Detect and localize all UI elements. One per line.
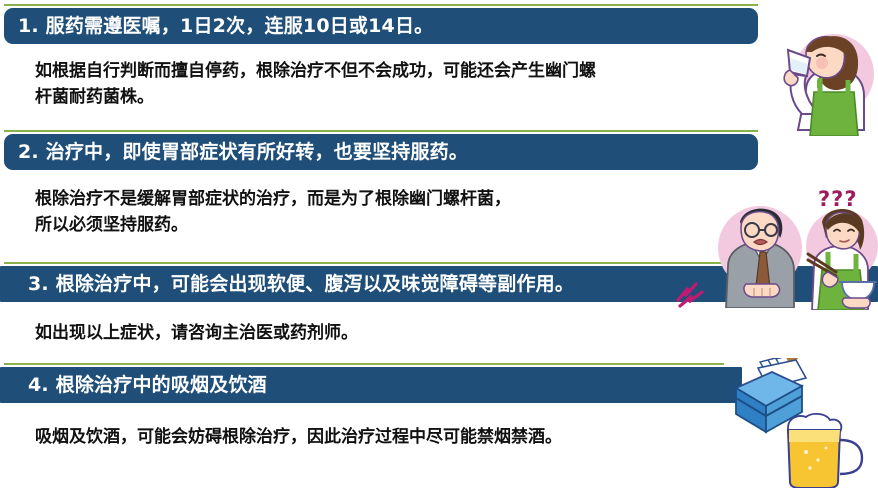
woman-drinking-water-icon <box>776 18 876 136</box>
section-4-heading-text: 4. 根除治疗中的吸烟及饮酒 <box>14 376 267 395</box>
section-1-heading-bar: 1. 服药需遵医嘱，1日2次，连服10日或14日。 <box>4 8 758 44</box>
question-marks-annotation: ??? <box>818 187 858 211</box>
section-1-heading-text: 1. 服药需遵医嘱，1日2次，连服10日或14日。 <box>18 17 433 36</box>
section-1-top-rule <box>4 4 758 6</box>
slide-canvas: 1. 服药需遵医嘱，1日2次，连服10日或14日。 如根据自行判断而擅自停药，根… <box>0 0 878 488</box>
beer-mug-icon <box>782 412 868 488</box>
section-3-body-text: 如出现以上症状，请咨询主治医或药剂师。 <box>35 320 675 346</box>
section-1-body-text: 如根据自行判断而擅自停药，根除治疗不但不会成功，可能还会产生幽门螺 杆菌耐药菌株… <box>35 58 775 110</box>
illustration-man-with-stomach-pain <box>714 196 810 308</box>
illustration-beer-mug <box>782 412 868 488</box>
section-3-top-rule <box>4 262 744 264</box>
section-2-heading-bar: 2. 治疗中，即使胃部症状有所好转，也要坚持服药。 <box>4 134 758 170</box>
section-3-heading-text: 3. 根除治疗中，可能会出现软便、腹泻以及味觉障碍等副作用。 <box>14 275 574 294</box>
section-2-body-text: 根除治疗不是缓解胃部症状的治疗，而是为了根除幽门螺杆菌， 所以必须坚持服药。 <box>35 186 715 238</box>
pain-squiggle-icon <box>676 280 716 308</box>
section-2-heading-text: 2. 治疗中，即使胃部症状有所好转，也要坚持服药。 <box>18 143 468 162</box>
man-stomach-pain-icon <box>714 196 810 308</box>
illustration-woman-drinking-water <box>776 18 876 136</box>
section-4-top-rule <box>4 363 724 365</box>
illustration-woman-eating-with-chopsticks <box>806 198 878 310</box>
section-2-top-rule <box>4 130 758 132</box>
woman-eating-icon <box>806 198 878 310</box>
section-4-heading-bar: 4. 根除治疗中的吸烟及饮酒 <box>0 367 742 403</box>
section-4-body-text: 吸烟及饮酒，可能会妨碍根除治疗，因此治疗过程中尽可能禁烟禁酒。 <box>35 424 715 450</box>
